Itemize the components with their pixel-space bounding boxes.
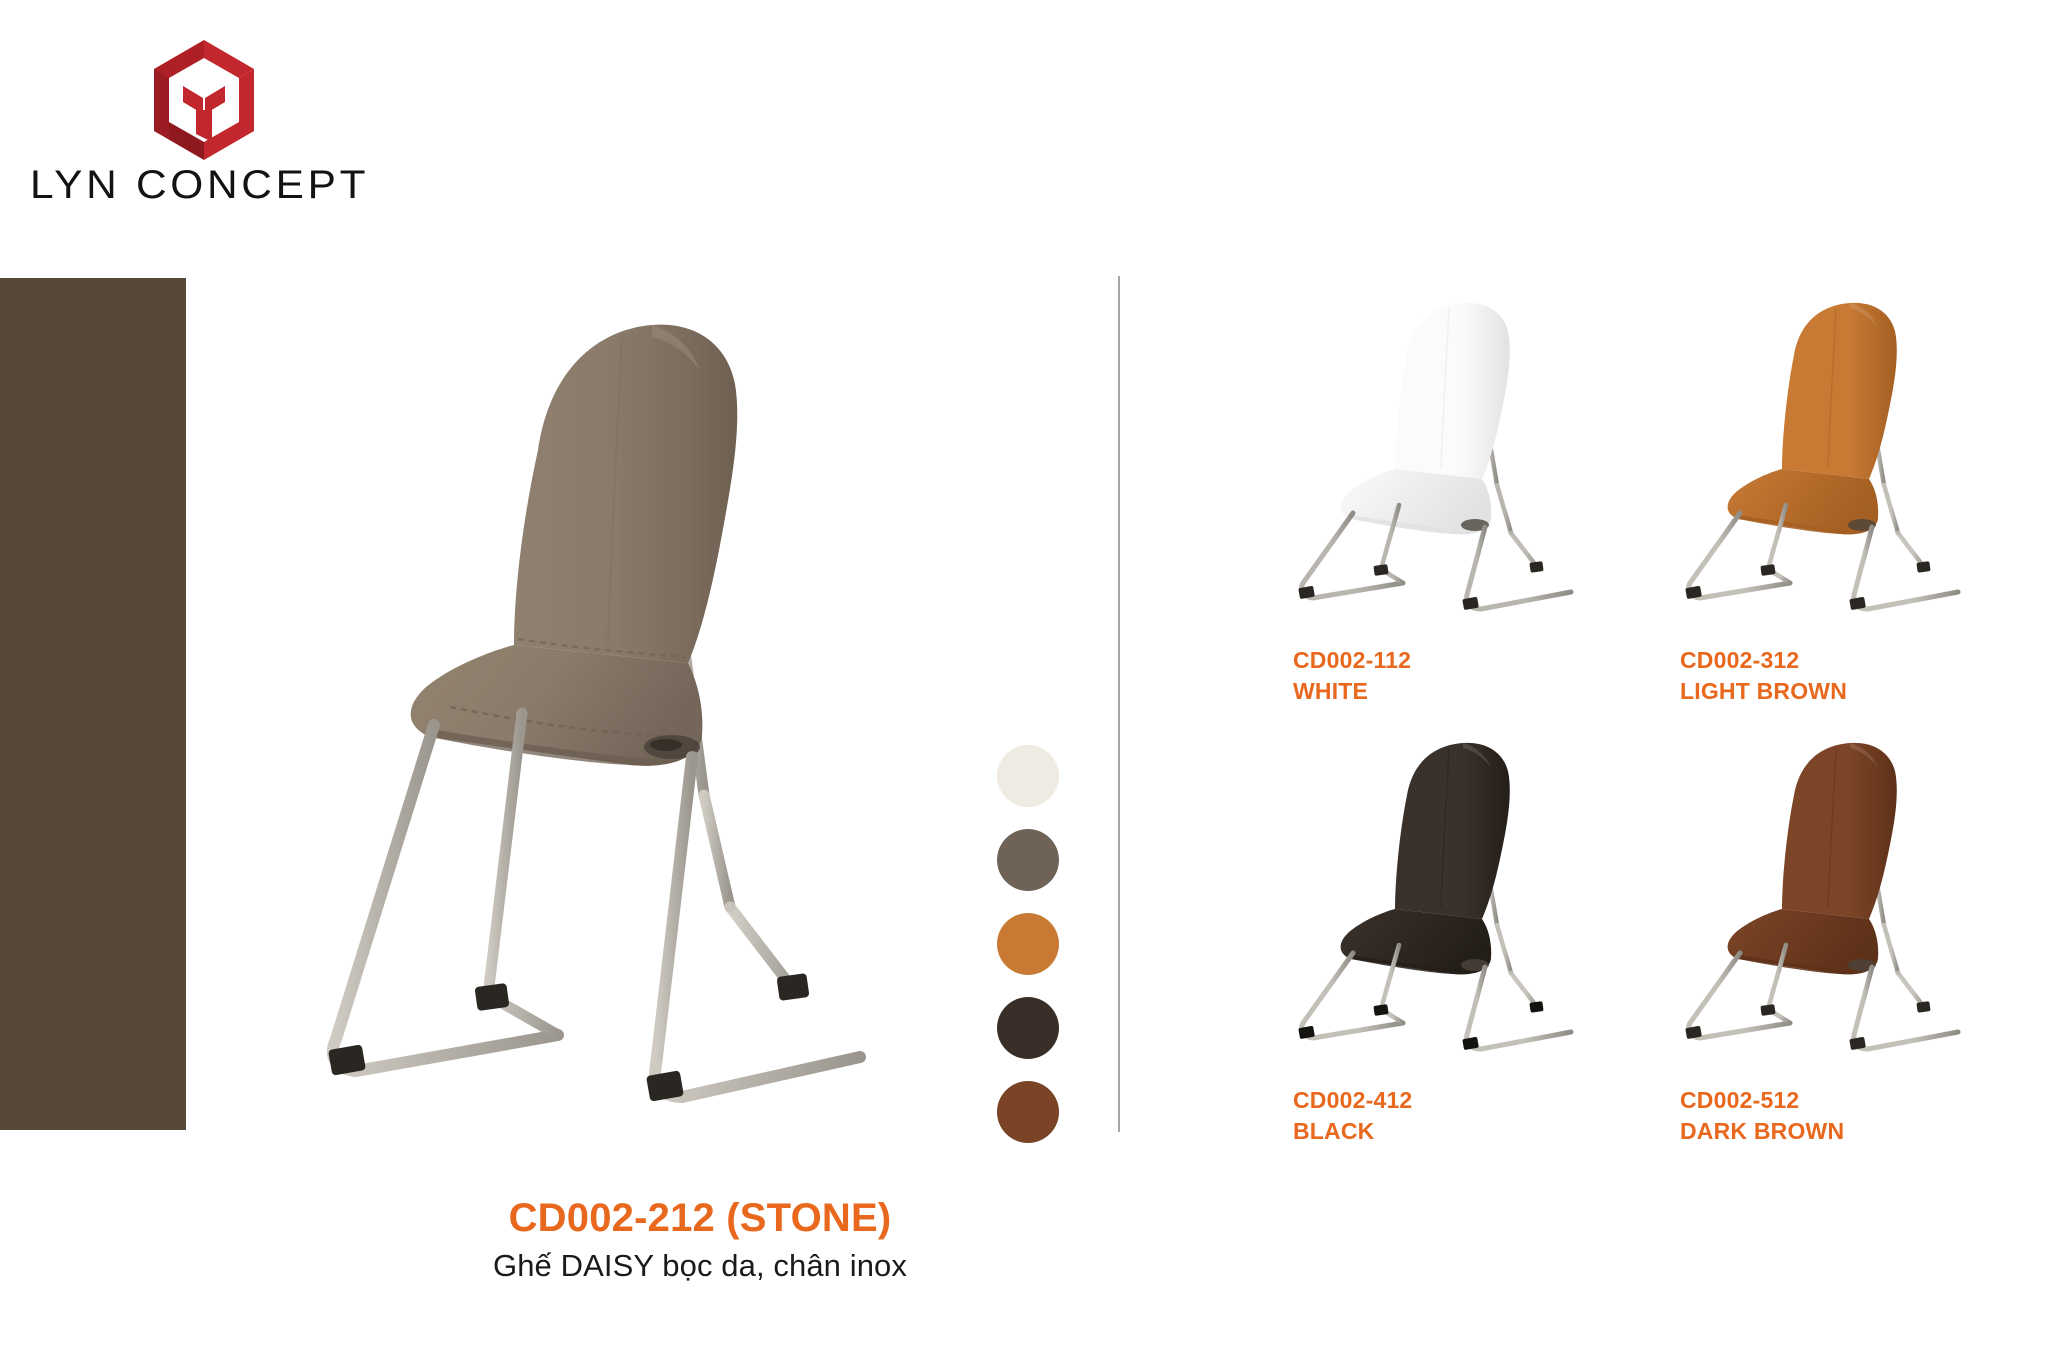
hero-caption: CD002-212 (STONE) Ghế DAISY bọc da, chân…	[300, 1195, 1100, 1286]
color-swatch-light-brown[interactable]	[997, 913, 1059, 975]
variant-code: CD002-512	[1680, 1085, 1844, 1116]
variant-card-black[interactable]: CD002-412 BLACK	[1285, 735, 1675, 1175]
color-swatch-black[interactable]	[997, 997, 1059, 1059]
variant-name: BLACK	[1293, 1116, 1412, 1147]
variant-card-dark-brown[interactable]: CD002-512 DARK BROWN	[1672, 735, 2048, 1175]
variant-code: CD002-412	[1293, 1085, 1412, 1116]
variant-label: CD002-512 DARK BROWN	[1680, 1085, 1844, 1146]
variant-product-image	[1285, 295, 1605, 625]
variant-name: WHITE	[1293, 676, 1411, 707]
brand-logo: LYN CONCEPT	[30, 38, 360, 198]
color-swatch-white[interactable]	[997, 745, 1059, 807]
variant-card-white[interactable]: CD002-112 WHITE	[1285, 295, 1675, 735]
variant-label: CD002-312 LIGHT BROWN	[1680, 645, 1847, 706]
variant-product-image	[1672, 295, 1992, 625]
hero-product-description: Ghế DAISY bọc da, chân inox	[300, 1246, 1100, 1286]
section-divider	[1118, 276, 1120, 1132]
variant-card-light-brown[interactable]: CD002-312 LIGHT BROWN	[1672, 295, 2048, 735]
variant-label: CD002-412 BLACK	[1293, 1085, 1412, 1146]
hero-product-image	[300, 295, 900, 1125]
brand-wordmark: LYN CONCEPT	[30, 163, 380, 207]
variant-code: CD002-312	[1680, 645, 1847, 676]
variant-label: CD002-112 WHITE	[1293, 645, 1411, 706]
variant-code: CD002-112	[1293, 645, 1411, 676]
hero-product-code: CD002-212 (STONE)	[300, 1195, 1100, 1242]
variant-product-image	[1285, 735, 1605, 1065]
variant-product-image	[1672, 735, 1992, 1065]
color-swatch-list	[997, 745, 1067, 1143]
accent-color-panel	[0, 278, 186, 1130]
cube-logo-icon	[148, 38, 260, 162]
color-swatch-stone[interactable]	[997, 829, 1059, 891]
color-swatch-dark-brown[interactable]	[997, 1081, 1059, 1143]
catalog-page: LYN CONCEPT	[0, 0, 2048, 1366]
variant-name: DARK BROWN	[1680, 1116, 1844, 1147]
variant-name: LIGHT BROWN	[1680, 676, 1847, 707]
